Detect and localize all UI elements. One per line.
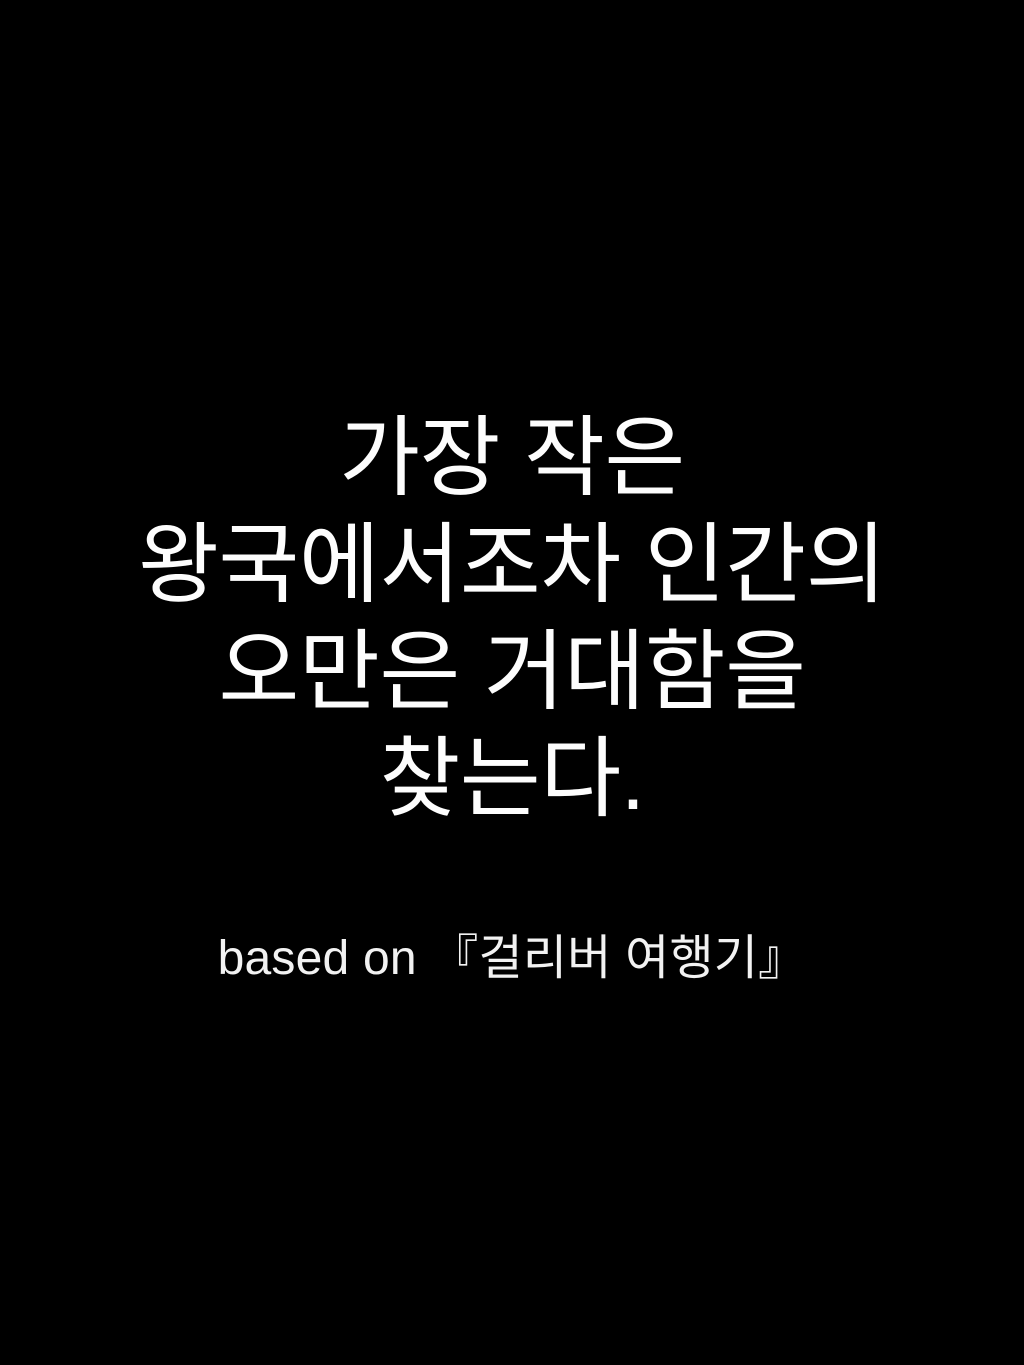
quote-line-3: 오만은 거대함을 [0, 618, 1024, 725]
quote-line-1: 가장 작은 [0, 404, 1024, 511]
quote-line-4: 찾는다. [0, 725, 1024, 832]
quote-line-2: 왕국에서조차 인간의 [0, 511, 1024, 618]
attribution-block: based on 『걸리버 여행기』 [0, 930, 1024, 988]
quote-block: 가장 작은 왕국에서조차 인간의 오만은 거대함을 찾는다. [0, 404, 1024, 832]
attribution-text: based on 『걸리버 여행기』 [218, 930, 807, 988]
quote-card: 가장 작은 왕국에서조차 인간의 오만은 거대함을 찾는다. based on … [0, 0, 1024, 1365]
